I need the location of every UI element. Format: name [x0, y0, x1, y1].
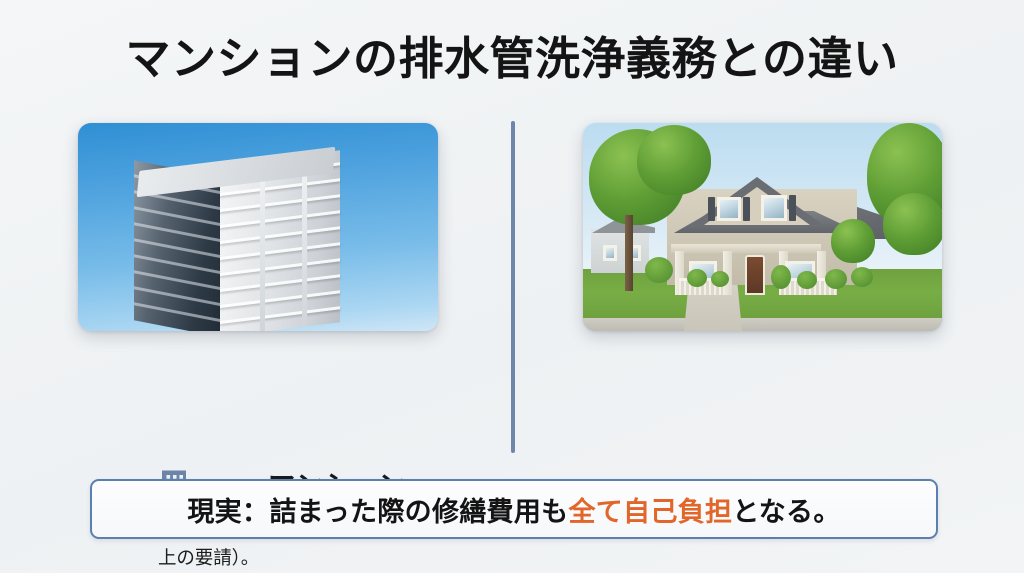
- neighbour-window: [603, 245, 617, 261]
- upper-window-right: [761, 195, 787, 221]
- window-shutter: [789, 195, 796, 221]
- apartment-tower-illustration: [134, 151, 340, 331]
- tree-right-lower: [883, 193, 942, 255]
- front-door: [745, 255, 765, 295]
- bush: [825, 269, 847, 289]
- sidewalk: [583, 318, 942, 331]
- callout-suffix: となる。: [732, 497, 840, 527]
- porch-roof: [671, 244, 821, 253]
- upper-window-left: [717, 197, 741, 221]
- kodate-photo: [583, 123, 942, 331]
- bush: [851, 267, 873, 287]
- tree-trunk-left: [625, 215, 633, 291]
- bush: [771, 265, 791, 289]
- callout-text: 現実：詰まった際の修繕費用も全て自己負担となる。: [187, 490, 840, 529]
- page-title: マンションの排水管洗浄義務との違い: [0, 34, 1024, 84]
- tree-left-upper: [637, 125, 711, 195]
- bush: [711, 271, 729, 287]
- column-divider: [511, 121, 515, 453]
- slide-root: マンションの排水管洗浄義務との違い: [0, 0, 1024, 570]
- window-shutter: [708, 197, 715, 221]
- bush: [687, 269, 707, 287]
- column-kodate: 戸建て 完全に「自己責任」。法的な義務はないが、リスクがないわけではない。: [583, 123, 943, 331]
- bush: [797, 271, 817, 289]
- callout-box: 現実：詰まった際の修繕費用も全て自己負担となる。: [90, 479, 938, 539]
- column-mansion: マンション 管理組合が計画的に一斉清掃を行う（構造上の要請）。: [78, 123, 438, 331]
- bush: [645, 257, 673, 283]
- callout-highlight: 全て自己負担: [568, 497, 732, 527]
- tree-back: [831, 219, 875, 263]
- mansion-photo: [78, 123, 438, 331]
- window-shutter: [743, 197, 750, 221]
- callout-prefix: 現実：詰まった際の修繕費用も: [187, 497, 568, 527]
